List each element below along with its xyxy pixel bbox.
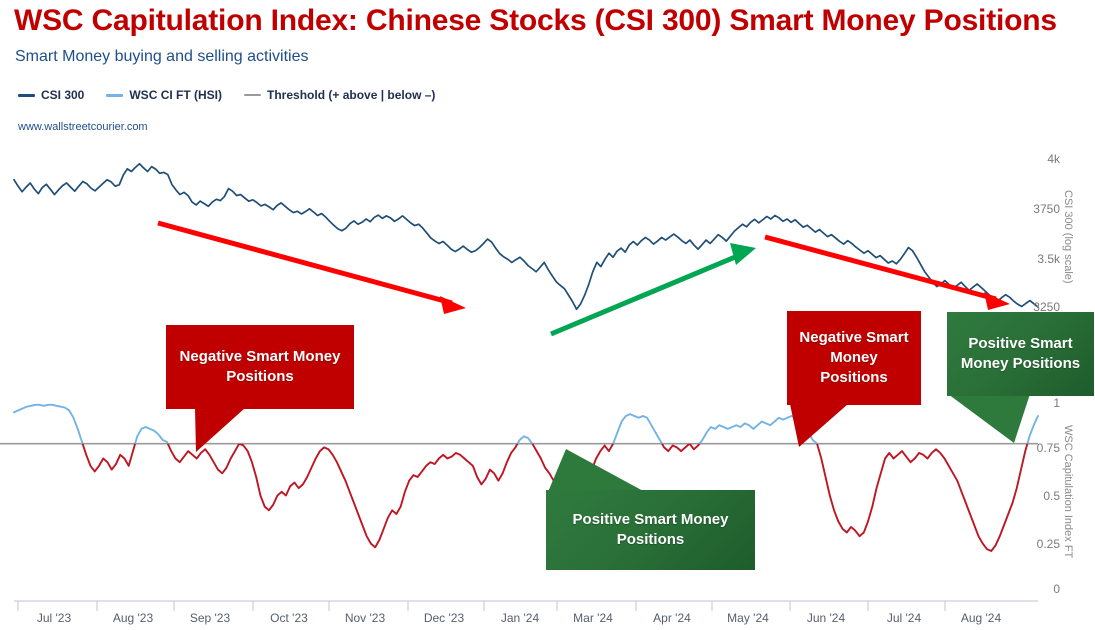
arrow-up-1 (551, 243, 756, 334)
y-axis-indicator-tick-075: 0.75 (1012, 441, 1060, 455)
y-axis-indicator-tick-1: 1 (1026, 396, 1060, 410)
callout-negative-smart-money-2[interactable]: Negative Smart Money Positions (787, 311, 921, 405)
x-axis-tick-label: Dec '23 (412, 611, 476, 625)
x-axis-tick-label: Sep '23 (178, 611, 242, 625)
callout-tail-positive-2 (948, 394, 1030, 443)
callout-positive-smart-money-2[interactable]: Positive Smart Money Positions (947, 312, 1094, 396)
x-axis-tick-label: Jul '23 (22, 611, 86, 625)
callout-negative-smart-money-1[interactable]: Negative Smart Money Positions (166, 325, 354, 409)
x-axis-tick-label: Apr '24 (640, 611, 704, 625)
x-axis-tick-label: Nov '23 (333, 611, 397, 625)
x-axis-ticks (18, 601, 945, 611)
y-axis-indicator-tick-0: 0 (1026, 582, 1060, 596)
wsc-ci-ft-line-below-threshold (14, 405, 1038, 551)
x-axis-tick-label: Jan '24 (488, 611, 552, 625)
x-axis-tick-label: Oct '23 (257, 611, 321, 625)
y-axis-indicator-tick-025: 0.25 (1012, 537, 1060, 551)
x-axis-tick-label: Aug '23 (101, 611, 165, 625)
callout-positive-smart-money-1[interactable]: Positive Smart Money Positions (546, 490, 755, 570)
y-axis-indicator-tick-05: 0.5 (1012, 489, 1060, 503)
y-axis-price-tick-4k: 4k (1026, 152, 1060, 166)
x-axis-tick-label: Mar '24 (561, 611, 625, 625)
y-axis-price-title: CSI 300 (log scale) (1062, 190, 1074, 284)
wsc-ci-ft-line-above-threshold (14, 405, 1038, 551)
x-axis-tick-label: Jun '24 (794, 611, 858, 625)
callout-tail-positive-1 (548, 449, 645, 492)
y-axis-price-tick-3750: 3750 (1016, 202, 1060, 216)
arrow-down-2 (765, 237, 1010, 310)
arrow-down-1 (158, 223, 466, 314)
y-axis-indicator-title: WSC Capitulation Index FT (1062, 425, 1074, 558)
x-axis-tick-label: Jul '24 (872, 611, 936, 625)
x-axis-tick-label: Aug '24 (949, 611, 1013, 625)
y-axis-price-tick-3.5k: 3.5k (1016, 252, 1060, 266)
csi300-line (14, 164, 1038, 310)
x-axis-tick-label: May '24 (716, 611, 780, 625)
callout-tail-negative-2 (790, 404, 848, 447)
